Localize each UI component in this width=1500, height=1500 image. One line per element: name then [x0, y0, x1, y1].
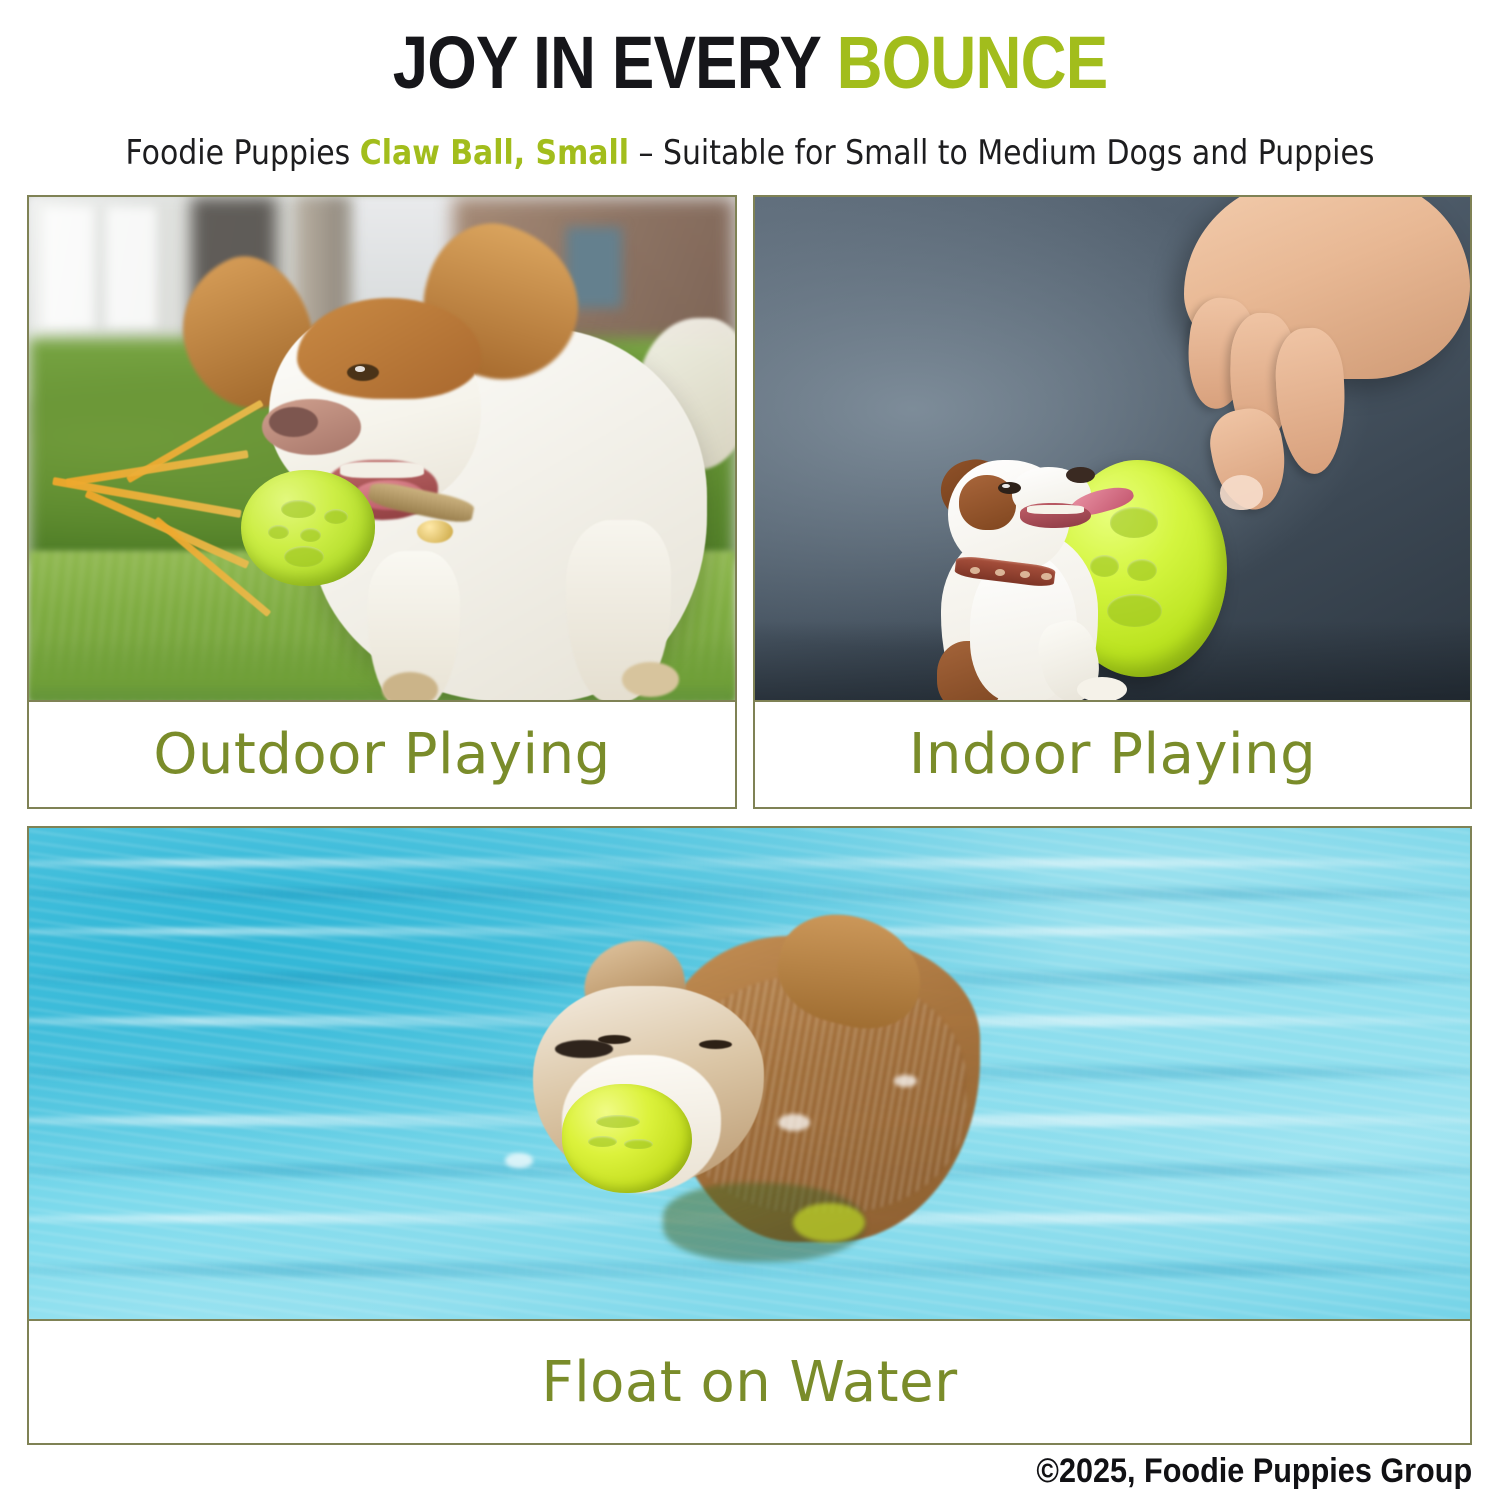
dog-nose [555, 1040, 613, 1058]
panel-indoor: Indoor Playing [753, 195, 1472, 809]
ball-paw-texture [284, 546, 324, 567]
collar-stud [995, 569, 1006, 576]
subtitle-product-name: Claw Ball, Small [360, 133, 629, 173]
panel-outdoor: Outdoor Playing [27, 195, 737, 809]
dog-collar-tag [417, 520, 452, 543]
claw-ball-toy [562, 1084, 692, 1192]
outdoor-scene [29, 197, 735, 702]
ball-paw-texture [1090, 555, 1119, 577]
header: JOY IN EVERY BOUNCE Foodie Puppies Claw … [0, 0, 1500, 196]
ball-paw-texture [268, 525, 289, 539]
headline-accent-part: BOUNCE [837, 21, 1108, 104]
ball-paw-texture [596, 1115, 640, 1128]
collar-stud [970, 567, 981, 574]
hand-finger [1273, 327, 1348, 477]
footer: ©2025, Foodie Puppies Group [0, 1448, 1500, 1500]
panel-water: Float on Water [27, 826, 1472, 1445]
dog-nose [1066, 467, 1095, 483]
ball-paw-texture [1107, 594, 1162, 627]
dog-paw [1077, 677, 1127, 702]
caption-outdoor: Outdoor Playing [29, 700, 735, 807]
headline-dark-part: JOY IN EVERY [393, 21, 820, 104]
ball-paw-texture [324, 509, 348, 524]
dog-teeth [340, 462, 425, 478]
indoor-scene [755, 197, 1470, 702]
fingernail [1220, 475, 1263, 510]
house-window [107, 207, 156, 328]
ball-paw-texture [624, 1139, 653, 1150]
collar-stud [1020, 571, 1031, 578]
ball-paw-texture [281, 500, 316, 519]
ball-paw-texture [1127, 559, 1156, 581]
photo-outdoor-playing [29, 197, 735, 702]
house-window [43, 207, 92, 328]
page-subtitle: Foodie Puppies Claw Ball, Small – Suitab… [90, 133, 1410, 173]
water-splash [778, 1114, 810, 1131]
caption-indoor: Indoor Playing [755, 700, 1470, 807]
ball-paw-texture [588, 1136, 617, 1147]
photo-indoor-playing [755, 197, 1470, 702]
claw-ball-toy [241, 470, 375, 586]
claw-ball-reflection [793, 1203, 865, 1242]
ball-paw-texture [300, 528, 321, 542]
water-splash [894, 1075, 917, 1088]
collar-stud [1041, 573, 1052, 580]
dog-teeth [1027, 505, 1084, 514]
photo-float-on-water [29, 828, 1470, 1321]
subtitle-prefix: Foodie Puppies [126, 133, 360, 173]
poster-root: JOY IN EVERY BOUNCE Foodie Puppies Claw … [0, 0, 1500, 1500]
copyright-text: ©2025, Foodie Puppies Group [1036, 1452, 1472, 1491]
water-scene [29, 828, 1470, 1321]
ball-paw-texture [1110, 507, 1158, 537]
dog-nose [269, 407, 318, 437]
caption-water: Float on Water [29, 1319, 1470, 1443]
page-title: JOY IN EVERY BOUNCE [105, 26, 1395, 100]
dog-eye-highlight [355, 366, 365, 372]
subtitle-suffix: – Suitable for Small to Medium Dogs and … [629, 133, 1375, 173]
dog-paw [622, 662, 678, 697]
